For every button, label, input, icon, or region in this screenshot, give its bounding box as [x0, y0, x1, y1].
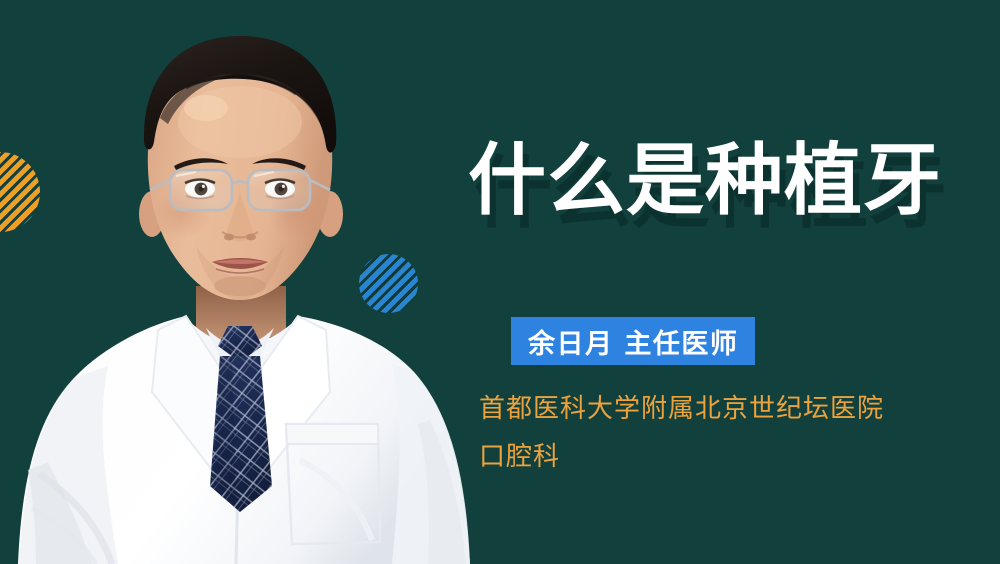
affiliation-hospital: 首都医科大学附属北京世纪坛医院 — [479, 385, 979, 433]
headline-text: 什么是种植牙 — [468, 141, 942, 221]
status-badge: 余日月 主任医师 — [511, 317, 755, 365]
headline: 什么是种植牙 什么是种植牙 — [468, 141, 968, 236]
doctor-name-and-title: 余日月 主任医师 — [528, 322, 738, 361]
affiliation-block: 首都医科大学附属北京世纪坛医院 口腔科 — [479, 385, 979, 481]
striped-circle-blue-icon — [359, 254, 418, 313]
affiliation-department: 口腔科 — [479, 433, 979, 481]
video-thumbnail-card: 什么是种植牙 什么是种植牙 余日月 主任医师 首都医科大学附属北京世纪坛医院 口… — [0, 0, 1000, 564]
